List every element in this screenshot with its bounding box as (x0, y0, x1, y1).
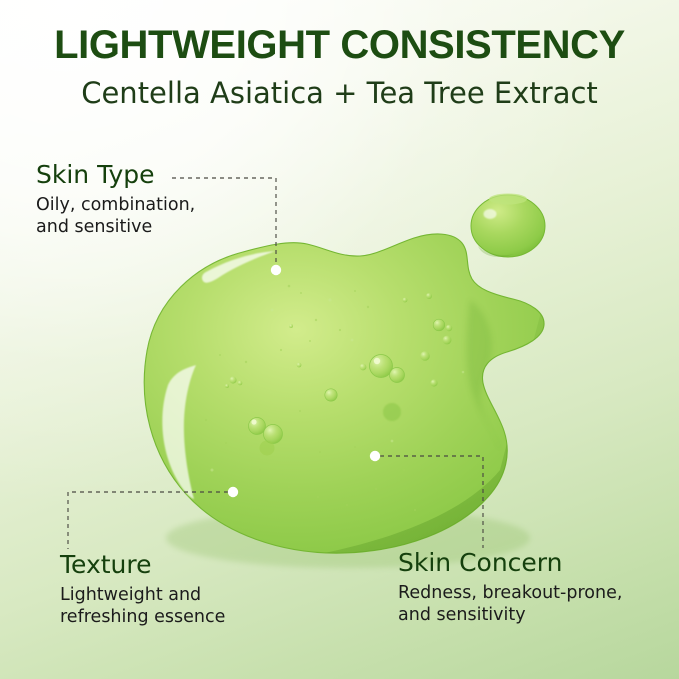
callout-skin-concern-description: Redness, breakout-prone, and sensitivity (398, 577, 622, 626)
callout-texture: Texture Lightweight and refreshing essen… (60, 550, 225, 628)
callout-skin-type-title: Skin Type (36, 160, 195, 189)
page-title: LIGHTWEIGHT CONSISTENCY (0, 0, 679, 68)
header: LIGHTWEIGHT CONSISTENCY Centella Asiatic… (0, 0, 679, 110)
callout-texture-description: Lightweight and refreshing essence (60, 579, 225, 628)
callout-texture-title: Texture (60, 550, 225, 579)
large-gel-blob (140, 234, 560, 570)
small-gel-droplet (471, 194, 545, 258)
callout-skin-concern-title: Skin Concern (398, 548, 622, 577)
callout-skin-concern: Skin Concern Redness, breakout-prone, an… (398, 548, 622, 626)
callout-skin-type-description: Oily, combination, and sensitive (36, 189, 195, 238)
page-subtitle: Centella Asiatica + Tea Tree Extract (0, 68, 679, 110)
callout-skin-type: Skin Type Oily, combination, and sensiti… (36, 160, 195, 238)
infographic-canvas: LIGHTWEIGHT CONSISTENCY Centella Asiatic… (0, 0, 679, 679)
